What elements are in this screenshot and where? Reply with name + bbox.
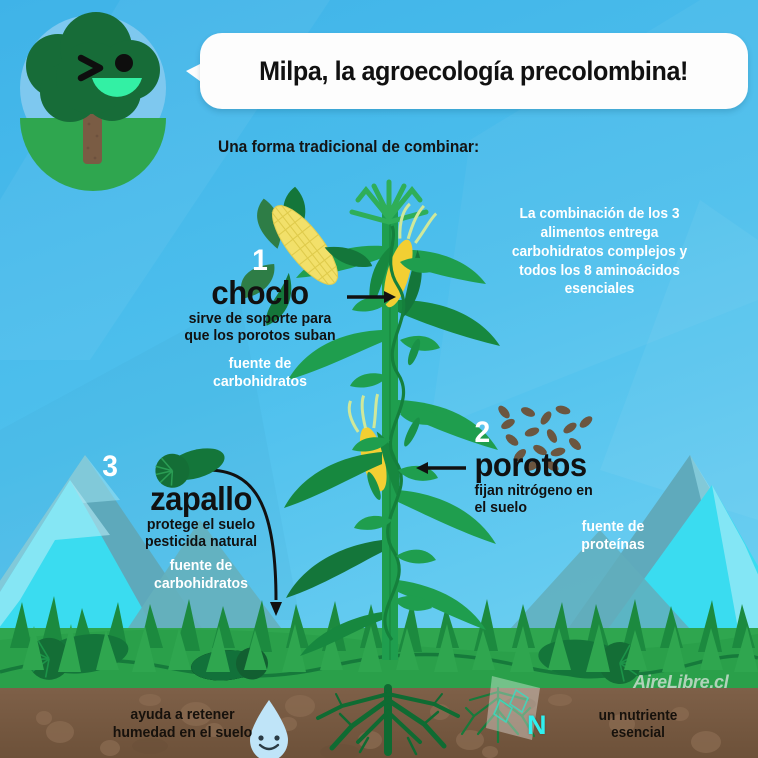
item-porotos-desc-line-2: el suelo	[474, 499, 676, 517]
item-choclo-block: 1 choclo sirve de soporte para que los p…	[160, 246, 360, 390]
watermark: AireLibre.cl	[633, 672, 728, 693]
item-zapallo-benefit-line-2: carbohidratos	[102, 575, 299, 593]
item-zapallo-benefit-line-1: fuente de	[102, 557, 299, 575]
item-porotos-block: 2 porotos fijan nitrógeno en el suelo	[468, 418, 683, 517]
item-choclo-desc-line-1: sirve de soporte para	[166, 310, 354, 328]
title-speech-bubble: Milpa, la agroecología precolombina!	[200, 33, 748, 109]
ground-moisture-note: ayuda a retener humedad en el suelo	[75, 706, 290, 742]
item-porotos-benefit-line-2: proteínas	[552, 536, 674, 554]
item-choclo-name: choclo	[166, 276, 354, 310]
combo-line-3: carbohidratos complejos y	[502, 243, 697, 262]
ground-nutrient-line-2: esencial	[568, 725, 709, 742]
item-zapallo-block: 3 zapallo protege el suelo pesticida nat…	[96, 452, 306, 592]
item-choclo-benefit-line-1: fuente de	[166, 355, 354, 373]
item-porotos-benefit-line-1: fuente de	[552, 518, 674, 536]
item-choclo-number: 1	[166, 246, 354, 276]
combo-line-5: esenciales	[502, 280, 697, 299]
item-choclo-benefit-line-2: carbohidratos	[166, 373, 354, 391]
ground-moisture-line-2: humedad en el suelo	[81, 724, 283, 742]
item-zapallo-name: zapallo	[102, 482, 299, 516]
item-zapallo-number: 3	[102, 452, 299, 482]
subtitle: Una forma tradicional de combinar:	[218, 138, 496, 157]
ground-moisture-line-1: ayuda a retener	[81, 706, 283, 724]
item-zapallo-desc-line-1: protege el suelo	[102, 516, 299, 534]
combination-note: La combinación de los 3 alimentos entreg…	[497, 205, 702, 299]
combo-line-2: alimentos entrega	[502, 224, 697, 243]
item-porotos-name: porotos	[474, 448, 676, 482]
item-choclo-desc-line-2: que los porotos suban	[166, 327, 354, 345]
item-porotos-desc-line-1: fijan nitrógeno en	[474, 482, 676, 500]
item-porotos-number: 2	[474, 418, 676, 448]
nitrogen-symbol: N	[527, 710, 547, 741]
winking-tree-mascot	[20, 12, 166, 191]
scenery-layer	[0, 0, 758, 758]
infographic-canvas: Milpa, la agroecología precolombina! Una…	[0, 0, 758, 758]
page-title: Milpa, la agroecología precolombina!	[260, 56, 689, 87]
combo-line-4: todos los 8 aminoácidos	[502, 262, 697, 281]
item-zapallo-desc-line-2: pesticida natural	[102, 533, 299, 551]
item-porotos-benefit: fuente de proteínas	[548, 518, 678, 553]
ground-nutrient-line-1: un nutriente	[568, 708, 709, 725]
combo-line-1: La combinación de los 3	[502, 205, 697, 224]
ground-nutrient-note: un nutriente esencial	[563, 708, 713, 743]
